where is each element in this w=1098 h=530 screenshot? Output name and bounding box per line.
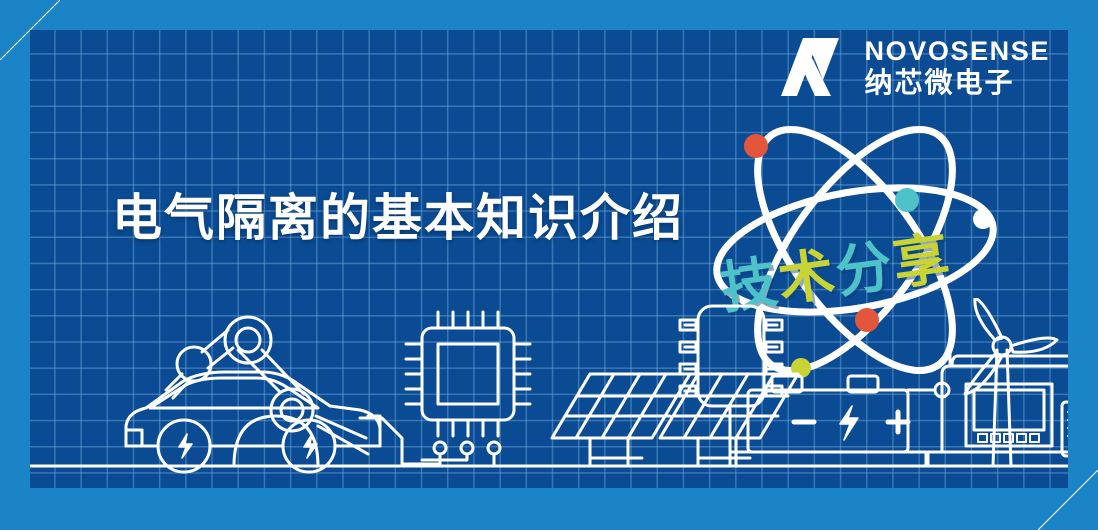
blueprint-panel: NOVOSENSE 纳芯微电子 电气隔离的基本知识介绍 技 术 分 享 [30, 30, 1068, 488]
electron-mid-right-icon [895, 188, 919, 212]
logo-chinese-text: 纳芯微电子 [865, 69, 1050, 97]
battery-bolt-sign [840, 406, 858, 440]
badge-char-4: 享 [890, 231, 953, 294]
badge-char-3: 分 [832, 239, 895, 302]
qfp-chip-icon [360, 312, 530, 466]
page-title: 电气隔离的基本知识介绍 [112, 178, 684, 250]
novosense-n-mark-icon [779, 36, 853, 98]
novosense-logo: NOVOSENSE 纳芯微电子 [779, 36, 1050, 98]
illustration-strip [30, 298, 1068, 488]
robot-arm-icon [166, 317, 368, 466]
promo-banner: NOVOSENSE 纳芯微电子 电气隔离的基本知识介绍 技 术 分 享 [0, 0, 1098, 530]
battery-icon [730, 376, 949, 466]
battery-plus-sign [888, 412, 908, 432]
logo-wordmark: NOVOSENSE 纳芯微电子 [865, 38, 1050, 97]
dip-ic-package-icon [680, 306, 782, 466]
logo-english-text: NOVOSENSE [865, 38, 1050, 65]
electron-top-left-icon [744, 134, 768, 158]
